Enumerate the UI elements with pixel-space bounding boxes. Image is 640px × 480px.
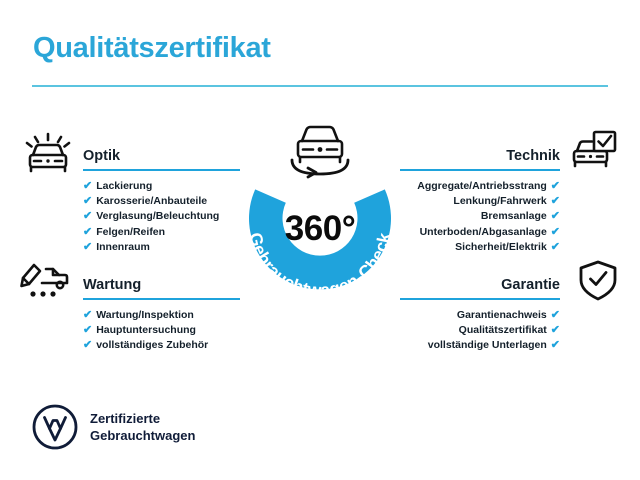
list-item-label: Sicherheit/Elektrik: [455, 241, 547, 253]
checklist-wartung: ✔Wartung/Inspektion ✔Hauptuntersuchung ✔…: [83, 308, 240, 354]
list-item-label: Innenraum: [96, 241, 150, 253]
car-rotation-icon: [292, 127, 348, 177]
check-icon: ✔: [83, 338, 92, 353]
check-icon: ✔: [83, 323, 92, 338]
list-item: ✔Lackierung: [83, 179, 240, 194]
check-icon: ✔: [551, 338, 560, 353]
shield-check-icon: [572, 259, 624, 305]
footer-text: Zertifizierte Gebrauchtwagen: [90, 410, 195, 444]
section-wartung: Wartung ✔Wartung/Inspektion ✔Hauptunters…: [83, 270, 240, 354]
section-title-technik: Technik: [506, 148, 560, 164]
check-icon: ✔: [83, 308, 92, 323]
check-icon: ✔: [551, 323, 560, 338]
section-title-optik: Optik: [83, 148, 120, 164]
section-optik: Optik ✔Lackierung ✔Karosserie/Anbauteile…: [83, 141, 240, 255]
vw-logo: [32, 404, 78, 450]
section-divider-garantie: [400, 298, 560, 300]
360-badge: Gebrauchtwagen-Check 360°: [222, 112, 418, 318]
section-header-garantie: Garantie: [400, 270, 560, 300]
section-garantie: Garantie Garantienachweis✔ Qualitätszert…: [400, 270, 560, 354]
check-icon: ✔: [551, 194, 560, 209]
check-icon: ✔: [83, 209, 92, 224]
header-divider: [32, 85, 608, 87]
list-item-label: Bremsanlage: [481, 210, 547, 222]
car-shine-icon: [22, 131, 74, 177]
list-item-label: Lackierung: [96, 180, 152, 192]
list-item-label: Karosserie/Anbauteile: [96, 195, 207, 207]
check-icon: ✔: [551, 209, 560, 224]
list-item: Lenkung/Fahrwerk✔: [400, 194, 560, 209]
check-icon: ✔: [551, 308, 560, 323]
check-icon: ✔: [83, 225, 92, 240]
checklist-garantie: Garantienachweis✔ Qualitätszertifikat✔ v…: [400, 308, 560, 354]
section-header-optik: Optik: [83, 141, 240, 171]
list-item-label: Lenkung/Fahrwerk: [453, 195, 546, 207]
certificate-page: Qualitätszertifikat Optik ✔Lackierung ✔K…: [0, 0, 640, 480]
list-item-label: Wartung/Inspektion: [96, 309, 194, 321]
list-item: ✔Felgen/Reifen: [83, 225, 240, 240]
list-item-label: Hauptuntersuchung: [96, 324, 196, 336]
page-title: Qualitätszertifikat: [33, 32, 271, 65]
check-icon: ✔: [83, 194, 92, 209]
list-item-label: Unterboden/Abgasanlage: [420, 226, 547, 238]
section-divider-wartung: [83, 298, 240, 300]
section-title-wartung: Wartung: [83, 277, 141, 293]
section-header-wartung: Wartung: [83, 270, 240, 300]
car-checkbox-icon: [568, 129, 620, 175]
list-item-label: Qualitätszertifikat: [459, 324, 547, 336]
list-item: Qualitätszertifikat✔: [400, 323, 560, 338]
list-item: Unterboden/Abgasanlage✔: [400, 225, 560, 240]
list-item-label: Garantienachweis: [457, 309, 547, 321]
section-divider-technik: [400, 169, 560, 171]
list-item: ✔Karosserie/Anbauteile: [83, 194, 240, 209]
list-item: Sicherheit/Elektrik✔: [400, 240, 560, 255]
list-item: ✔Innenraum: [83, 240, 240, 255]
list-item: vollständige Unterlagen✔: [400, 338, 560, 353]
list-item-label: vollständige Unterlagen: [428, 339, 547, 351]
list-item: Bremsanlage✔: [400, 209, 560, 224]
footer-line-1: Zertifizierte: [90, 410, 195, 427]
check-icon: ✔: [83, 179, 92, 194]
section-header-technik: Technik: [400, 141, 560, 171]
check-icon: ✔: [551, 179, 560, 194]
check-icon: ✔: [551, 240, 560, 255]
footer-line-2: Gebrauchtwagen: [90, 427, 195, 444]
list-item: ✔Wartung/Inspektion: [83, 308, 240, 323]
badge-center-label: 360°: [285, 209, 355, 248]
footer-brand: Zertifizierte Gebrauchtwagen: [32, 404, 195, 450]
check-icon: ✔: [551, 225, 560, 240]
list-item-label: Verglasung/Beleuchtung: [96, 210, 219, 222]
check-icon: ✔: [83, 240, 92, 255]
list-item-label: Aggregate/Antriebsstrang: [417, 180, 547, 192]
checklist-optik: ✔Lackierung ✔Karosserie/Anbauteile ✔Verg…: [83, 179, 240, 255]
section-divider-optik: [83, 169, 240, 171]
list-item-label: vollständiges Zubehör: [96, 339, 208, 351]
checklist-technik: Aggregate/Antriebsstrang✔ Lenkung/Fahrwe…: [400, 179, 560, 255]
list-item: Garantienachweis✔: [400, 308, 560, 323]
list-item: ✔Hauptuntersuchung: [83, 323, 240, 338]
section-title-garantie: Garantie: [501, 277, 560, 293]
car-service-pen-icon: [20, 259, 72, 305]
list-item: ✔Verglasung/Beleuchtung: [83, 209, 240, 224]
list-item-label: Felgen/Reifen: [96, 226, 165, 238]
list-item: Aggregate/Antriebsstrang✔: [400, 179, 560, 194]
section-technik: Technik Aggregate/Antriebsstrang✔ Lenkun…: [400, 141, 560, 255]
list-item: ✔vollständiges Zubehör: [83, 338, 240, 353]
